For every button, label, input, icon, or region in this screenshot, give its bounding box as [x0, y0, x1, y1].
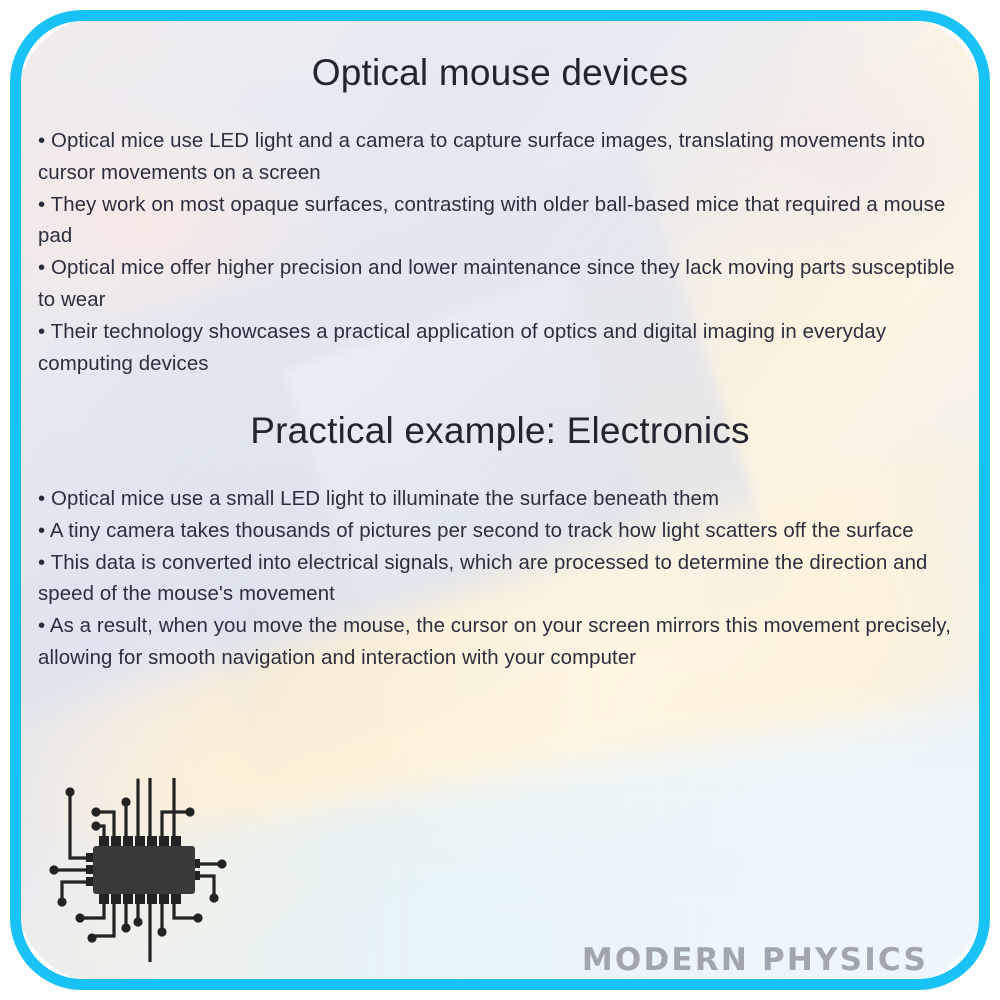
list-item: • As a result, when you move the mouse, …: [38, 611, 962, 675]
list-item: • Optical mice use a small LED light to …: [38, 484, 962, 516]
page-title: Optical mouse devices: [40, 52, 960, 95]
list-item: • Their technology showcases a practical…: [38, 317, 962, 381]
intro-bullet-list: • Optical mice use LED light and a camer…: [38, 126, 962, 380]
section-title: Practical example: Electronics: [40, 410, 960, 453]
list-item: • A tiny camera takes thousands of pictu…: [38, 516, 962, 548]
slide-content: Optical mouse devices • Optical mice use…: [0, 0, 1000, 1000]
list-item: • They work on most opaque surfaces, con…: [38, 190, 962, 254]
list-item: • This data is converted into electrical…: [38, 548, 962, 612]
list-item: • Optical mice offer higher precision an…: [38, 253, 962, 317]
slide-root: Optical mouse devices • Optical mice use…: [0, 0, 1000, 1000]
microchip-icon: [32, 778, 256, 962]
watermark-label: Modern Physics: [582, 942, 928, 978]
example-bullet-list: • Optical mice use a small LED light to …: [38, 484, 962, 675]
list-item: • Optical mice use LED light and a camer…: [38, 126, 962, 190]
